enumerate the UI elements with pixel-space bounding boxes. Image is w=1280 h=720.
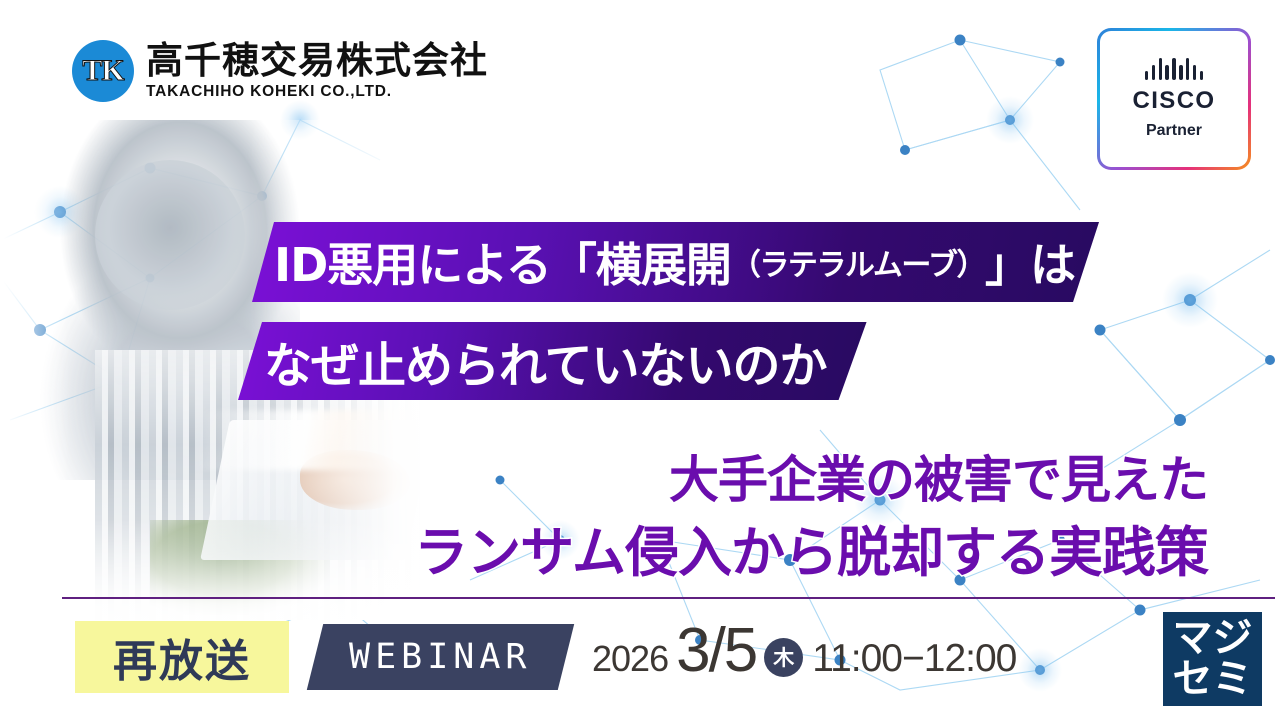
- headline-band-2: なぜ止められていないのか: [238, 322, 867, 400]
- majisemi-line-1: マジ: [1173, 618, 1253, 659]
- footer-divider: [62, 597, 1275, 599]
- company-name-jp: 高千穂交易株式会社: [146, 42, 488, 79]
- headline-band-1: ID悪用による「横展開（ラテラルムーブ）」は: [252, 222, 1099, 302]
- company-logo: TK 高千穂交易株式会社 TAKACHIHO KOHEKI CO.,LTD.: [72, 40, 488, 102]
- headline-line2: なぜ止められていないのか: [264, 326, 827, 396]
- tk-logo-icon: TK: [72, 40, 134, 102]
- event-time: 11:00−12:00: [812, 637, 1016, 681]
- subtitle-line-2: ランサム侵入から脱却する実践策: [414, 508, 1208, 587]
- majisemi-line-2: セミ: [1173, 659, 1253, 700]
- rebroadcast-badge: 再放送: [75, 621, 289, 693]
- headline-line1-part1: ID悪用による「横展開: [274, 229, 731, 295]
- event-datetime: 2026 3/5 木 11:00−12:00: [592, 620, 1016, 694]
- webinar-label: WEBINAR: [349, 637, 532, 677]
- cisco-partner-text: Partner: [1146, 122, 1202, 140]
- tk-logo-text: TK: [72, 54, 134, 88]
- rebroadcast-label: 再放送: [113, 625, 251, 689]
- cisco-brand-text: CISCO: [1132, 87, 1215, 115]
- photo-fade-left: [0, 120, 70, 620]
- subtitle-line-1: 大手企業の被害で見えた: [669, 440, 1208, 512]
- cisco-bars-icon: [1145, 58, 1204, 80]
- banner-canvas: TK 高千穂交易株式会社 TAKACHIHO KOHEKI CO.,LTD. C…: [0, 0, 1280, 720]
- majisemi-logo: マジ セミ: [1163, 612, 1262, 706]
- company-name-en: TAKACHIHO KOHEKI CO.,LTD.: [146, 84, 488, 100]
- webinar-tag: WEBINAR: [307, 624, 574, 690]
- headline-line1-part2: 」は: [985, 229, 1075, 295]
- event-day: 3/5: [676, 620, 756, 682]
- event-day-of-week: 木: [764, 638, 803, 677]
- headline-line1-ruby: （ラテラルムーブ）: [731, 240, 985, 284]
- cisco-partner-badge: CISCO Partner: [1097, 28, 1251, 170]
- event-year: 2026: [592, 638, 668, 680]
